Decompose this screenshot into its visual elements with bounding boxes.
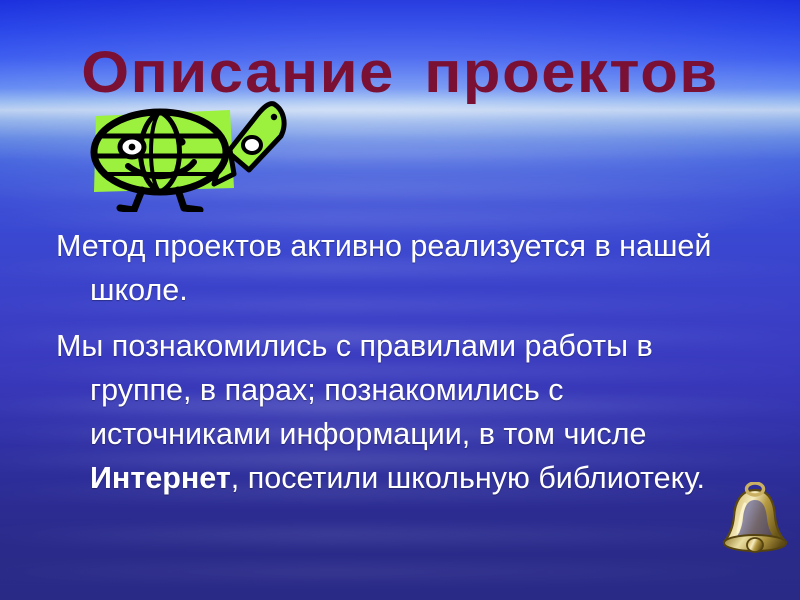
slide-body-text: Метод проектов активно реализуется в наш… bbox=[56, 224, 746, 506]
bell-clipart bbox=[716, 482, 794, 564]
globe-rocket-icon bbox=[78, 100, 293, 212]
bell-icon bbox=[716, 482, 794, 564]
paragraph-1-run-1: Метод проектов активно реализуется в наш… bbox=[56, 229, 711, 307]
globe-icon bbox=[94, 112, 226, 210]
paragraph-2-run-1: Мы познакомились с правилами работы в гр… bbox=[56, 329, 653, 451]
paragraph-2: Мы познакомились с правилами работы в гр… bbox=[56, 324, 746, 500]
paragraph-2-run-2-internet: Интернет bbox=[90, 461, 231, 495]
paragraph-2-run-3: , посетили школьную библиотеку. bbox=[231, 461, 705, 495]
paragraph-1: Метод проектов активно реализуется в наш… bbox=[56, 224, 746, 312]
presentation-slide: Описание проектов bbox=[0, 0, 800, 600]
globe-rocket-clipart bbox=[78, 100, 293, 212]
slide-title: Описание проектов bbox=[0, 42, 800, 104]
